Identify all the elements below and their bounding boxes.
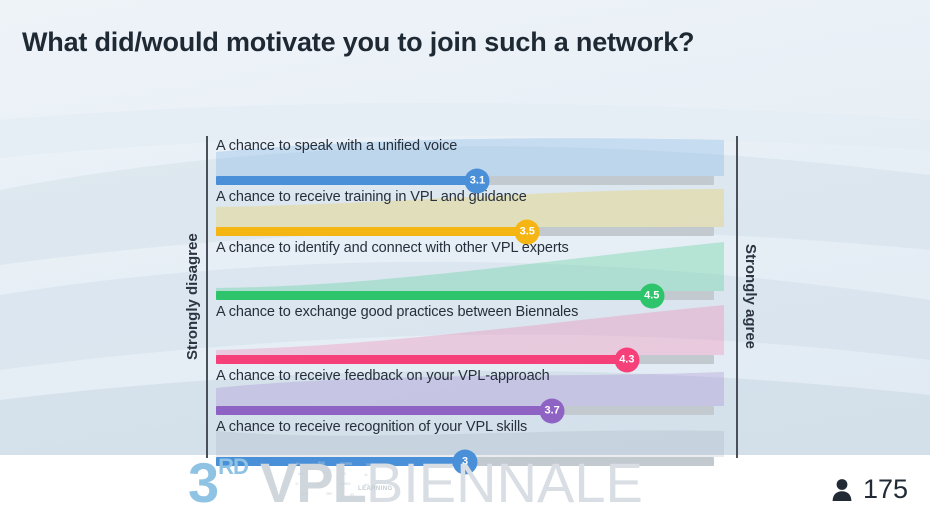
chart-rows: A chance to speak with a unified voice 3… (216, 136, 724, 458)
logo-wordcloud-decoration: VPLSKILLSPROGRESS DEVLEARNVPL APLVALVS V… (292, 458, 384, 502)
svg-text:APL: APL (342, 472, 347, 476)
svg-text:STAR: STAR (326, 492, 333, 496)
bar-track[interactable]: 3.1 (216, 176, 714, 185)
axis-line-right (736, 136, 738, 458)
chart-row[interactable]: A chance to speak with a unified voice 3… (216, 136, 724, 185)
page-title: What did/would motivate you to join such… (22, 24, 702, 61)
svg-text:EXPERIENCE: EXPERIENCE (338, 482, 352, 486)
chart-row[interactable]: A chance to receive feedback on your VPL… (216, 366, 724, 415)
axis-label-strongly-agree: Strongly agree (742, 136, 759, 458)
bar-fill (216, 227, 527, 236)
likert-bar-chart: Strongly disagree Strongly agree A chanc… (206, 136, 738, 458)
axis-line-left (206, 136, 208, 458)
svg-text:LEARN: LEARN (298, 472, 306, 476)
axis-label-strongly-disagree: Strongly disagree (184, 136, 201, 458)
logo-ordinal: 3 (188, 455, 218, 511)
bar-track[interactable]: 3.7 (216, 406, 714, 415)
chart-row[interactable]: A chance to exchange good practices betw… (216, 302, 724, 364)
viewer-count-value: 175 (863, 476, 908, 503)
svg-text:PROGRESS: PROGRESS (340, 462, 353, 466)
svg-text:SKILLS: SKILLS (318, 461, 326, 465)
row-label: A chance to receive feedback on your VPL… (216, 366, 724, 389)
svg-text:DEV: DEV (366, 463, 372, 467)
row-label: A chance to speak with a unified voice (216, 136, 724, 159)
bar-fill (216, 176, 477, 185)
chart-row[interactable]: A chance to receive training in VPL and … (216, 187, 724, 236)
row-label: A chance to identify and connect with ot… (216, 238, 724, 261)
svg-text:VPL: VPL (322, 471, 327, 475)
bar-track[interactable]: 4.3 (216, 355, 714, 364)
logo-ordinal-suffix: RD (218, 456, 248, 478)
bar-fill (216, 355, 627, 364)
row-label: A chance to receive recognition of your … (216, 417, 724, 440)
vpl-biennale-logo: 3 RD VPL BIENNALE VPLSKILLSPROGRESS DEVL… (188, 452, 740, 514)
svg-text:VALID: VALID (316, 483, 322, 487)
row-label: A chance to exchange good practices betw… (216, 302, 724, 325)
bar-track[interactable]: 3.5 (216, 227, 714, 236)
viewer-counter: 175 (830, 476, 908, 503)
person-icon (830, 477, 854, 503)
bar-fill (216, 406, 552, 415)
bar-fill (216, 291, 652, 300)
svg-text:VPL: VPL (296, 462, 301, 466)
logo-learning-text: LEARNING (358, 486, 393, 492)
bar-track[interactable]: 4.5 (216, 291, 714, 300)
svg-text:RPL: RPL (350, 493, 355, 497)
logo-biennale-text: BIENNALE (366, 455, 643, 511)
row-label: A chance to receive training in VPL and … (216, 187, 724, 210)
svg-text:VAL: VAL (364, 473, 368, 477)
svg-text:VS: VS (295, 482, 299, 486)
chart-row[interactable]: A chance to identify and connect with ot… (216, 238, 724, 300)
svg-text:QUALITY: QUALITY (300, 492, 310, 496)
